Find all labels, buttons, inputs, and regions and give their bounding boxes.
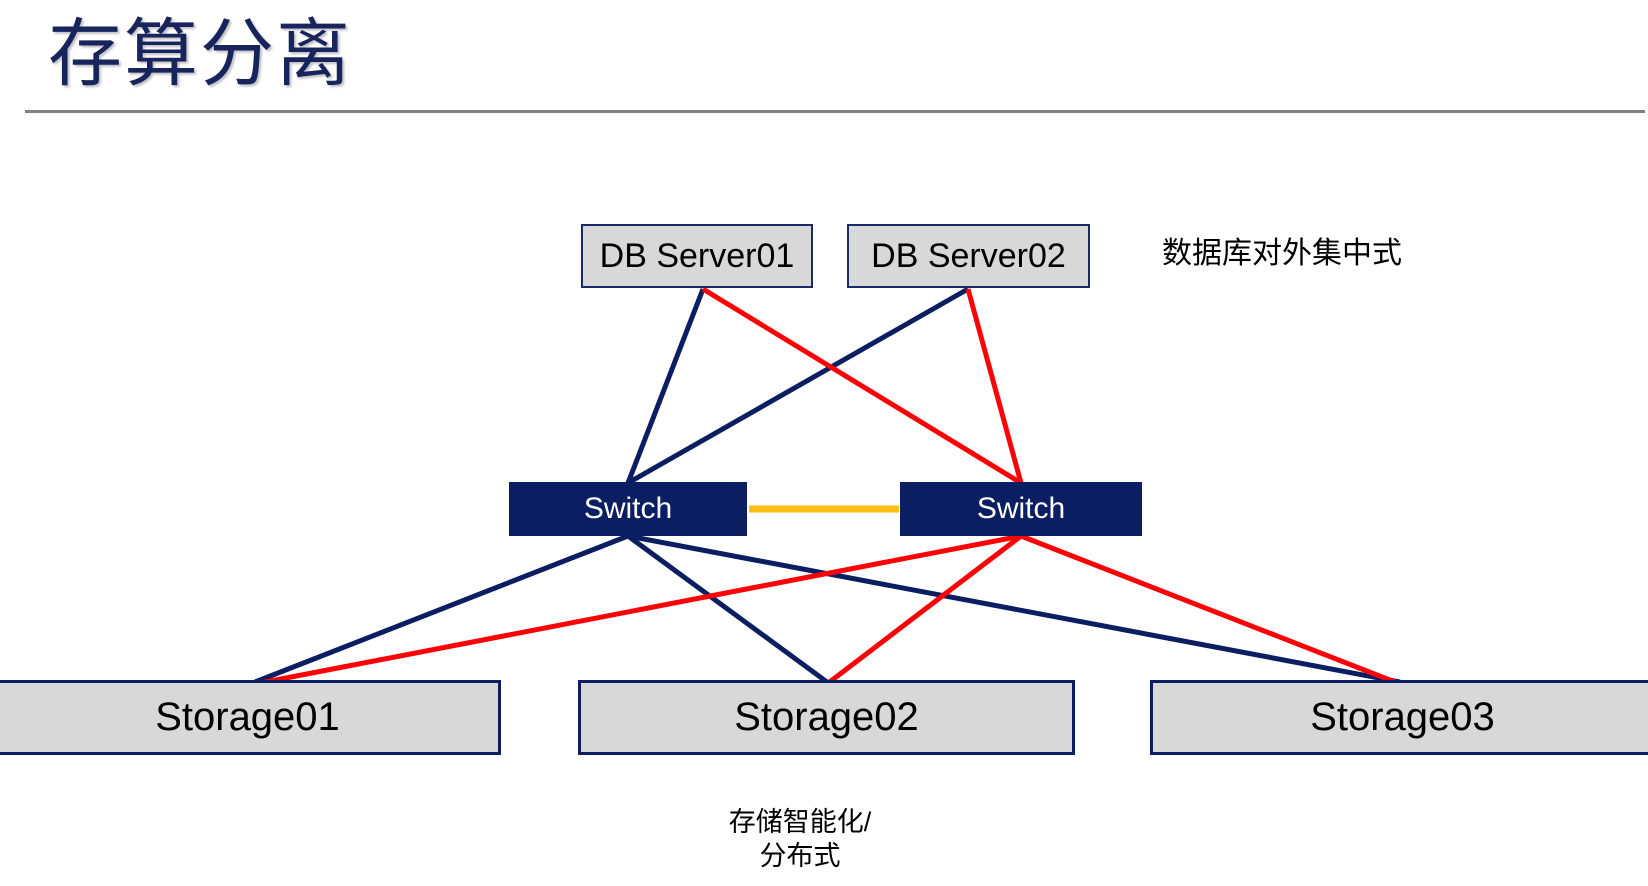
node-storage-03[interactable]: Storage03 <box>1150 680 1648 755</box>
annotation-db-tier: 数据库对外集中式 <box>1162 233 1402 275</box>
node-switch-02-label: Switch <box>977 492 1065 526</box>
node-storage-01[interactable]: Storage01 <box>0 680 501 755</box>
node-storage-03-label: Storage03 <box>1310 695 1495 740</box>
node-storage-02-label: Storage02 <box>734 695 919 740</box>
annotation-storage-tier: 存储智能化/ 分布式 <box>640 805 960 873</box>
node-storage-01-label: Storage01 <box>155 695 340 740</box>
node-db-server-02[interactable]: DB Server02 <box>847 224 1090 288</box>
edge-db01-switch01 <box>628 289 703 483</box>
node-db-server-01[interactable]: DB Server01 <box>581 224 813 288</box>
node-switch-01[interactable]: Switch <box>509 482 747 536</box>
edge-switch01-storage03 <box>628 536 1400 682</box>
node-switch-02[interactable]: Switch <box>900 482 1142 536</box>
node-db-server-02-label: DB Server02 <box>871 237 1066 276</box>
edge-switch01-storage02 <box>628 536 827 682</box>
annotation-storage-tier-line-2: 分布式 <box>640 839 960 873</box>
edge-db02-switch01 <box>628 289 968 483</box>
slide-canvas: 存算分离 DB Server01 DB Server02 数据库对外集中式 <box>0 0 1648 886</box>
node-storage-02[interactable]: Storage02 <box>578 680 1075 755</box>
edge-db01-switch02 <box>703 289 1021 483</box>
edge-switch02-storage02 <box>827 536 1021 684</box>
edge-switch02-storage03 <box>1021 536 1400 684</box>
node-db-server-01-label: DB Server01 <box>600 237 795 276</box>
node-switch-01-label: Switch <box>584 492 672 526</box>
edge-switch02-storage01 <box>255 536 1021 684</box>
edge-switch01-storage01 <box>255 536 628 682</box>
annotation-storage-tier-line-1: 存储智能化/ <box>640 805 960 839</box>
